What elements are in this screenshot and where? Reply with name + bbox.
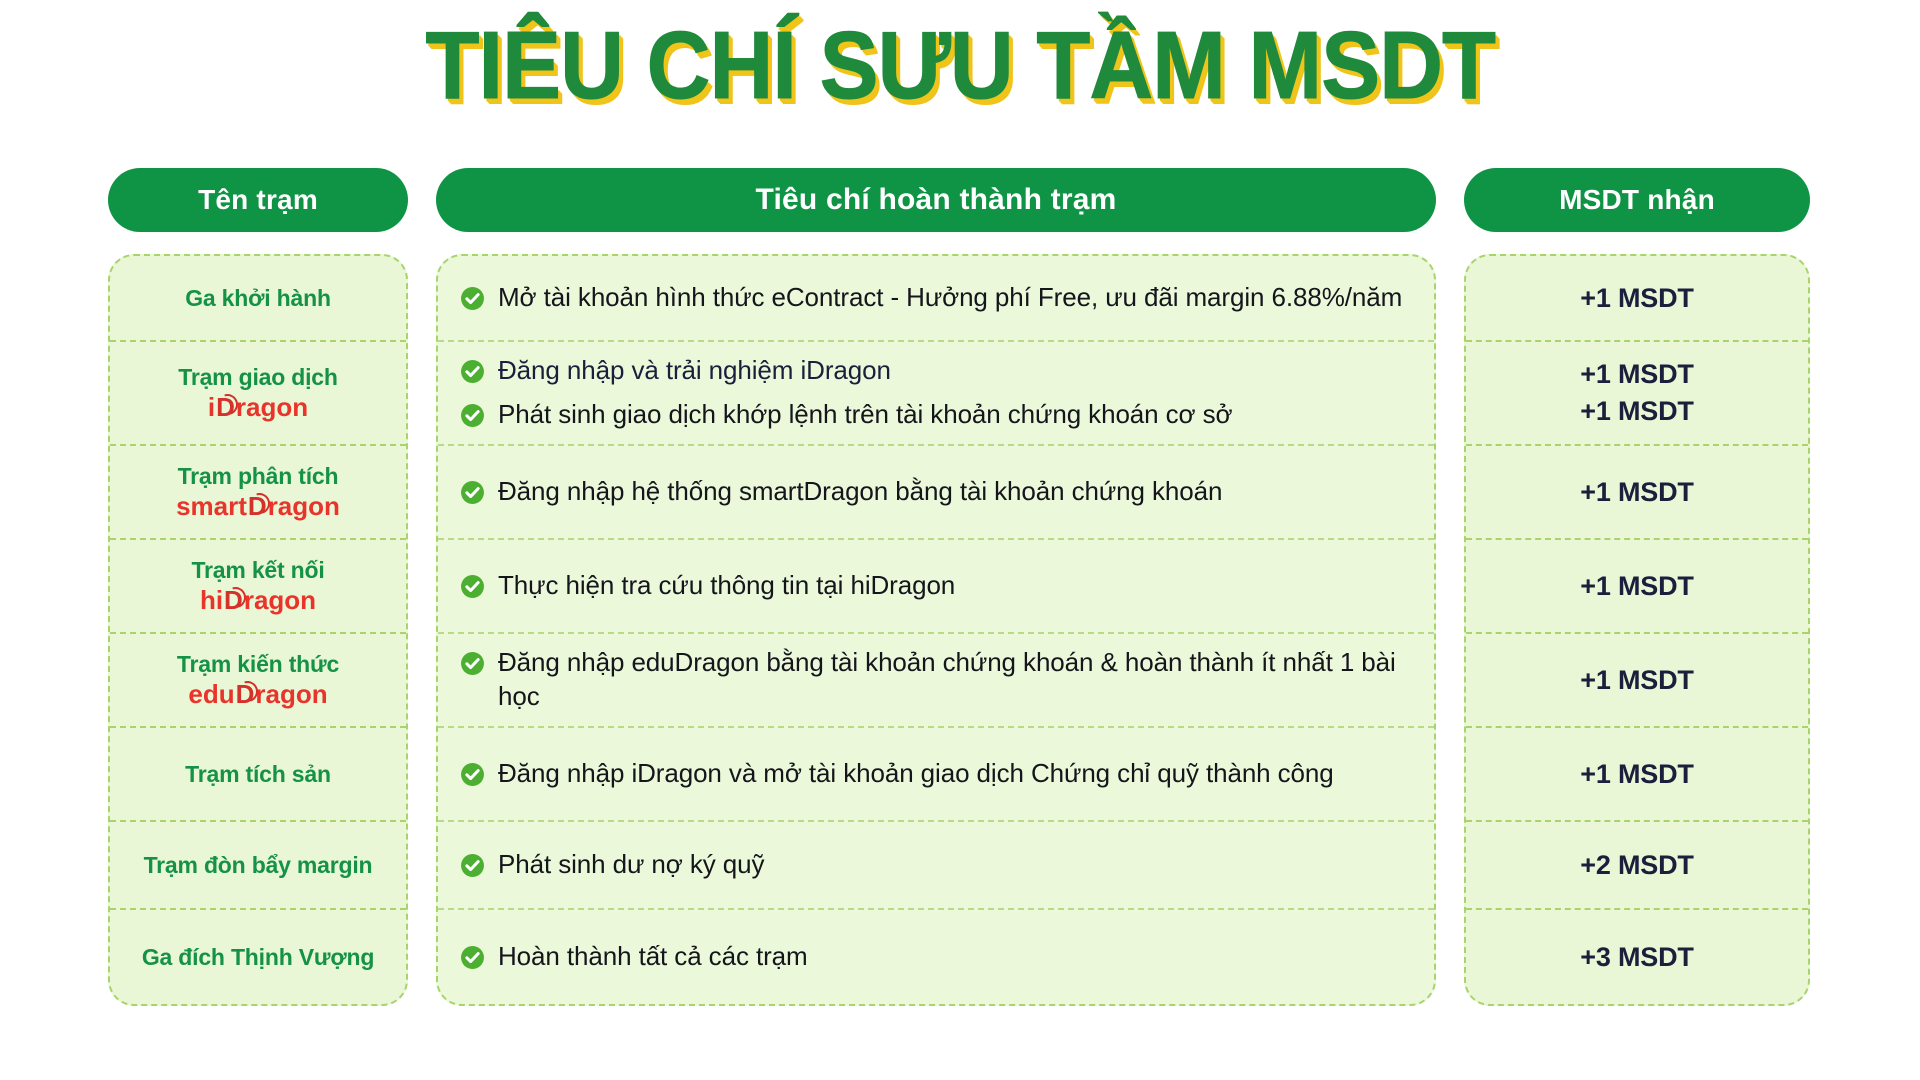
msdt-panel: +1 MSDT+1 MSDT+1 MSDT+1 MSDT+1 MSDT+1 MS… [1464,254,1810,1006]
check-circle-icon [460,853,485,878]
msdt-cell: +1 MSDT+1 MSDT [1466,342,1808,446]
check-circle-icon [460,286,485,311]
check-circle-icon [460,574,485,599]
station-cell: Trạm giao dịchiDragon [110,342,406,446]
dragon-d-icon: D [223,586,244,616]
dragon-d-icon: D [235,680,256,710]
station-brand-logo: iDragon [208,393,308,423]
criteria-text: Thực hiện tra cứu thông tin tại hiDragon [498,569,955,603]
msdt-cell: +1 MSDT [1466,256,1808,342]
criteria-cell: Thực hiện tra cứu thông tin tại hiDragon [438,540,1434,634]
msdt-value: +1 MSDT [1580,571,1693,602]
station-name: Trạm giao dịch [178,363,338,391]
msdt-cell: +2 MSDT [1466,822,1808,910]
header-criteria: Tiêu chí hoàn thành trạm [436,168,1436,232]
msdt-value: +3 MSDT [1580,942,1693,973]
msdt-value: +1 MSDT [1580,359,1693,390]
station-brand-logo: hiDragon [200,586,316,616]
station-name: Trạm phân tích [178,462,339,490]
station-cell: Ga khởi hành [110,256,406,342]
criteria-bullet: Đăng nhập eduDragon bằng tài khoản chứng… [460,641,1408,719]
station-name: Ga khởi hành [185,284,331,312]
criteria-cell: Đăng nhập và trải nghiệm iDragon Phát si… [438,342,1434,446]
criteria-table: Tên trạm Ga khởi hànhTrạm giao dịchiDrag… [108,168,1820,1006]
station-cell: Trạm phân tíchsmartDragon [110,446,406,540]
column-station: Tên trạm Ga khởi hànhTrạm giao dịchiDrag… [108,168,408,1006]
poster-root: TIÊU CHÍ SƯU TẦM MSDT Tên trạm Ga khởi h… [0,0,1920,1080]
station-name: Trạm đòn bẩy margin [144,851,373,879]
criteria-bullet: Thực hiện tra cứu thông tin tại hiDragon [460,564,1408,608]
check-circle-icon [460,945,485,970]
station-cell: Trạm tích sản [110,728,406,822]
criteria-text: Đăng nhập iDragon và mở tài khoản giao d… [498,757,1334,791]
criteria-cell: Hoàn thành tất cả các trạm [438,910,1434,1004]
title-container: TIÊU CHÍ SƯU TẦM MSDT [0,18,1920,114]
criteria-text: Hoàn thành tất cả các trạm [498,940,808,974]
station-name: Trạm kết nối [191,556,324,584]
msdt-cell: +1 MSDT [1466,634,1808,728]
station-name: Trạm kiến thức [177,650,339,678]
criteria-text: Phát sinh dư nợ ký quỹ [498,848,764,882]
criteria-cell: Đăng nhập iDragon và mở tài khoản giao d… [438,728,1434,822]
msdt-value: +1 MSDT [1580,396,1693,427]
msdt-value: +1 MSDT [1580,283,1693,314]
criteria-cell: Mở tài khoản hình thức eContract - Hưởng… [438,256,1434,342]
dragon-d-icon: D [215,393,236,423]
msdt-cell: +3 MSDT [1466,910,1808,1004]
column-criteria: Tiêu chí hoàn thành trạm Mở tài khoản hì… [436,168,1436,1006]
dragon-d-icon: D [247,492,268,522]
criteria-bullet: Đăng nhập hệ thống smartDragon bằng tài … [460,470,1408,514]
header-station: Tên trạm [108,168,408,232]
msdt-cell: +1 MSDT [1466,728,1808,822]
criteria-bullet: Hoàn thành tất cả các trạm [460,935,1408,979]
criteria-cell: Đăng nhập eduDragon bằng tài khoản chứng… [438,634,1434,728]
criteria-text: Phát sinh giao dịch khớp lệnh trên tài k… [498,398,1232,432]
station-brand-logo: smartDragon [176,492,340,522]
criteria-bullet: Phát sinh dư nợ ký quỹ [460,843,1408,887]
station-name: Ga đích Thịnh Vượng [142,943,374,971]
check-circle-icon [460,762,485,787]
check-circle-icon [460,480,485,505]
criteria-bullet: Phát sinh giao dịch khớp lệnh trên tài k… [460,393,1408,437]
msdt-value: +1 MSDT [1580,665,1693,696]
header-msdt: MSDT nhận [1464,168,1810,232]
page-title: TIÊU CHÍ SƯU TẦM MSDT [425,18,1495,114]
station-cell: Trạm kiến thứceduDragon [110,634,406,728]
msdt-value: +2 MSDT [1580,850,1693,881]
criteria-panel: Mở tài khoản hình thức eContract - Hưởng… [436,254,1436,1006]
criteria-cell: Đăng nhập hệ thống smartDragon bằng tài … [438,446,1434,540]
station-panel: Ga khởi hànhTrạm giao dịchiDragonTrạm ph… [108,254,408,1006]
station-brand-logo: eduDragon [188,680,327,710]
msdt-value: +1 MSDT [1580,759,1693,790]
station-cell: Trạm kết nốihiDragon [110,540,406,634]
criteria-text: Đăng nhập hệ thống smartDragon bằng tài … [498,475,1222,509]
check-circle-icon [460,651,485,676]
criteria-text: Đăng nhập eduDragon bằng tài khoản chứng… [498,646,1408,714]
criteria-bullet: Đăng nhập và trải nghiệm iDragon [460,349,1408,393]
criteria-cell: Phát sinh dư nợ ký quỹ [438,822,1434,910]
criteria-bullet: Đăng nhập iDragon và mở tài khoản giao d… [460,752,1408,796]
msdt-value: +1 MSDT [1580,477,1693,508]
criteria-bullet: Mở tài khoản hình thức eContract - Hưởng… [460,276,1408,320]
check-circle-icon [460,359,485,384]
msdt-cell: +1 MSDT [1466,446,1808,540]
station-name: Trạm tích sản [185,760,331,788]
station-cell: Trạm đòn bẩy margin [110,822,406,910]
criteria-text: Đăng nhập và trải nghiệm iDragon [498,354,891,388]
criteria-text: Mở tài khoản hình thức eContract - Hưởng… [498,281,1402,315]
station-cell: Ga đích Thịnh Vượng [110,910,406,1004]
check-circle-icon [460,403,485,428]
msdt-cell: +1 MSDT [1466,540,1808,634]
column-msdt: MSDT nhận +1 MSDT+1 MSDT+1 MSDT+1 MSDT+1… [1464,168,1810,1006]
